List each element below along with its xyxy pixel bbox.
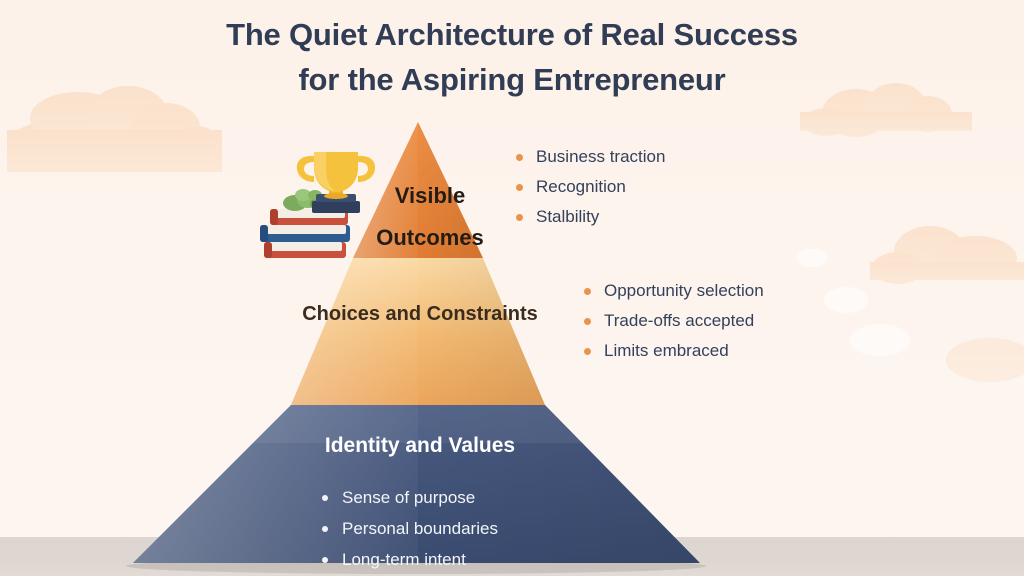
- slide-title: The Quiet Architecture of Real Success f…: [0, 12, 1024, 102]
- list-item: Recognition: [512, 172, 665, 202]
- book-blue-icon: [260, 225, 350, 242]
- slide-canvas: The Quiet Architecture of Real Success f…: [0, 0, 1024, 576]
- list-item: Long-term intent: [318, 544, 498, 575]
- list-item: Stalbility: [512, 202, 665, 232]
- bullet-list-choices-and-constraints: Opportunity selection Trade-offs accepte…: [580, 276, 764, 366]
- list-item: Trade-offs accepted: [580, 306, 764, 336]
- tier-label-identity-and-values: Identity and Values: [230, 434, 610, 458]
- slide-title-line-2: for the Aspiring Entrepreneur: [0, 57, 1024, 102]
- list-item: Sense of purpose: [318, 482, 498, 513]
- book-red-bottom-icon: [264, 242, 346, 258]
- list-item: Personal boundaries: [318, 513, 498, 544]
- bullet-list-visible-outcomes: Business traction Recognition Stalbility: [512, 142, 665, 232]
- list-item: Limits embraced: [580, 336, 764, 366]
- slide-title-line-1: The Quiet Architecture of Real Success: [0, 12, 1024, 57]
- list-item: Business traction: [512, 142, 665, 172]
- floor-band: [0, 537, 1024, 576]
- bullet-list-identity-and-values: Sense of purpose Personal boundaries Lon…: [318, 482, 498, 575]
- tier-label-top-line-2: Outcomes: [340, 217, 520, 259]
- tier-label-top-line-1: Visible: [340, 175, 520, 217]
- list-item: Opportunity selection: [580, 276, 764, 306]
- tier-label-choices-and-constraints: Choices and Constraints: [230, 303, 610, 326]
- tier-label-visible-outcomes: Visible Outcomes: [340, 175, 520, 259]
